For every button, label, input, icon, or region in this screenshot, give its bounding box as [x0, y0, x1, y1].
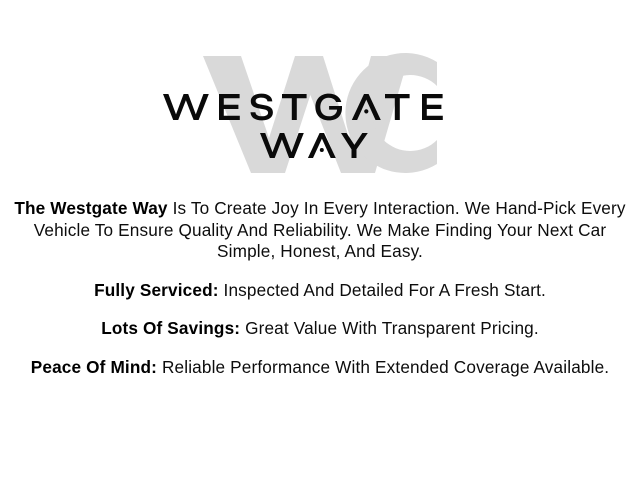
- paragraph-peace-of-mind: Peace Of Mind: Reliable Performance With…: [8, 357, 632, 379]
- paragraph-lead: Lots Of Savings:: [101, 318, 240, 338]
- paragraph-lead: The Westgate Way: [14, 198, 167, 218]
- paragraph-text: Inspected And Detailed For A Fresh Start…: [219, 280, 546, 300]
- brand-logo-block: [0, 52, 640, 177]
- paragraph-lots-of-savings: Lots Of Savings: Great Value With Transp…: [8, 318, 632, 340]
- body-copy: The Westgate Way Is To Create Joy In Eve…: [8, 198, 632, 378]
- paragraph-lead: Fully Serviced:: [94, 280, 219, 300]
- paragraph-text: Reliable Performance With Extended Cover…: [157, 357, 609, 377]
- paragraph-fully-serviced: Fully Serviced: Inspected And Detailed F…: [8, 280, 632, 302]
- paragraph-lead: Peace Of Mind:: [31, 357, 157, 377]
- paragraph-text: Great Value With Transparent Pricing.: [240, 318, 539, 338]
- wordmark-way: [0, 132, 640, 160]
- paragraph-westgate-way: The Westgate Way Is To Create Joy In Eve…: [8, 198, 632, 263]
- westgate-way-promo-card: The Westgate Way Is To Create Joy In Eve…: [0, 0, 640, 480]
- wordmark-westgate: [0, 92, 640, 122]
- brand-wordmark: [0, 52, 640, 177]
